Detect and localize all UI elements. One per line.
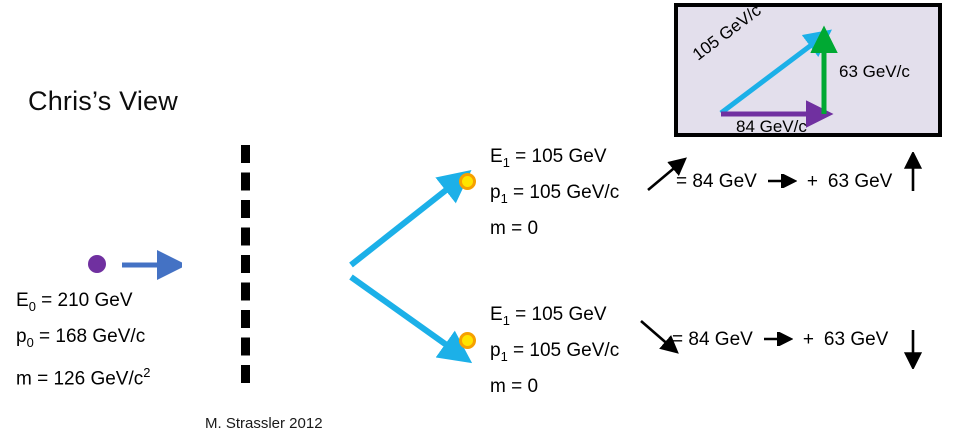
momentum-vector-inset: 105 GeV/c 63 GeV/c 84 GeV/c	[674, 3, 942, 137]
daughter-1-momentum-subscript: 1	[501, 191, 508, 206]
daughter-1-energy-subscript: 1	[503, 155, 510, 170]
daughter-1-labels: E1 = 105 GeV p1 = 105 GeV/c m = 0	[490, 142, 619, 244]
daughter-2-energy-label: E1 = 105 GeV	[490, 300, 619, 336]
parent-energy-subscript: 0	[29, 299, 36, 314]
arrow-up-icon	[903, 152, 925, 194]
parent-particle-dot	[88, 255, 106, 273]
daughter-1-momentum-label: p1 = 105 GeV/c	[490, 178, 619, 214]
decay-arrow-upper	[351, 183, 455, 265]
slide-canvas: Chris’s View E0 = 210 GeV p0 = 168 GeV/c…	[0, 0, 954, 439]
parent-momentum-label: p0 = 168 GeV/c	[16, 322, 150, 358]
daughter-2-momentum-subscript: 1	[501, 349, 508, 364]
daughter-particle-dot-1	[459, 173, 476, 190]
vector-horizontal-label: 84 GeV/c	[736, 117, 807, 137]
dashed-divider	[241, 145, 250, 383]
daughter-2-mass-label: m = 0	[490, 372, 619, 402]
arrow-down-icon	[903, 327, 925, 369]
parent-particle-labels: E0 = 210 GeV p0 = 168 GeV/c m = 126 GeV/…	[16, 286, 150, 394]
parent-energy-label: E0 = 210 GeV	[16, 286, 150, 322]
daughter-2-decomp-plus: +	[803, 329, 814, 350]
daughter-1-decomposition: = 84 GeV+63 GeV	[676, 169, 892, 195]
page-title: Chris’s View	[28, 84, 178, 118]
daughter-1-energy-label: E1 = 105 GeV	[490, 142, 619, 178]
parent-mass-label: m = 126 GeV/c2	[16, 358, 150, 394]
daughter-2-decomposition: = 84 GeV+63 GeV	[672, 327, 888, 353]
daughter-2-energy-subscript: 1	[503, 313, 510, 328]
daughter-1-decomp-second: 63 GeV	[828, 171, 892, 192]
arrow-right-icon	[763, 332, 793, 346]
decay-arrow-lower	[351, 277, 455, 351]
parent-mass-exponent: 2	[143, 365, 150, 380]
daughter-2-decomp-equals: = 84 GeV	[672, 329, 753, 350]
parent-momentum-arrow	[120, 250, 182, 280]
decay-arrows	[345, 155, 475, 370]
daughter-1-decomp-plus: +	[807, 171, 818, 192]
daughter-2-momentum-label: p1 = 105 GeV/c	[490, 336, 619, 372]
daughter-2-labels: E1 = 105 GeV p1 = 105 GeV/c m = 0	[490, 300, 619, 402]
daughter-1-mass-label: m = 0	[490, 214, 619, 244]
vector-hypotenuse	[721, 40, 818, 113]
parent-momentum-subscript: 0	[27, 335, 34, 350]
vector-vertical-label: 63 GeV/c	[839, 62, 910, 82]
attribution-credit: M. Strassler 2012	[205, 415, 323, 432]
daughter-1-decomp-equals: = 84 GeV	[676, 171, 757, 192]
arrow-right-icon	[767, 174, 797, 188]
daughter-2-decomp-second: 63 GeV	[824, 329, 888, 350]
daughter-particle-dot-2	[459, 332, 476, 349]
